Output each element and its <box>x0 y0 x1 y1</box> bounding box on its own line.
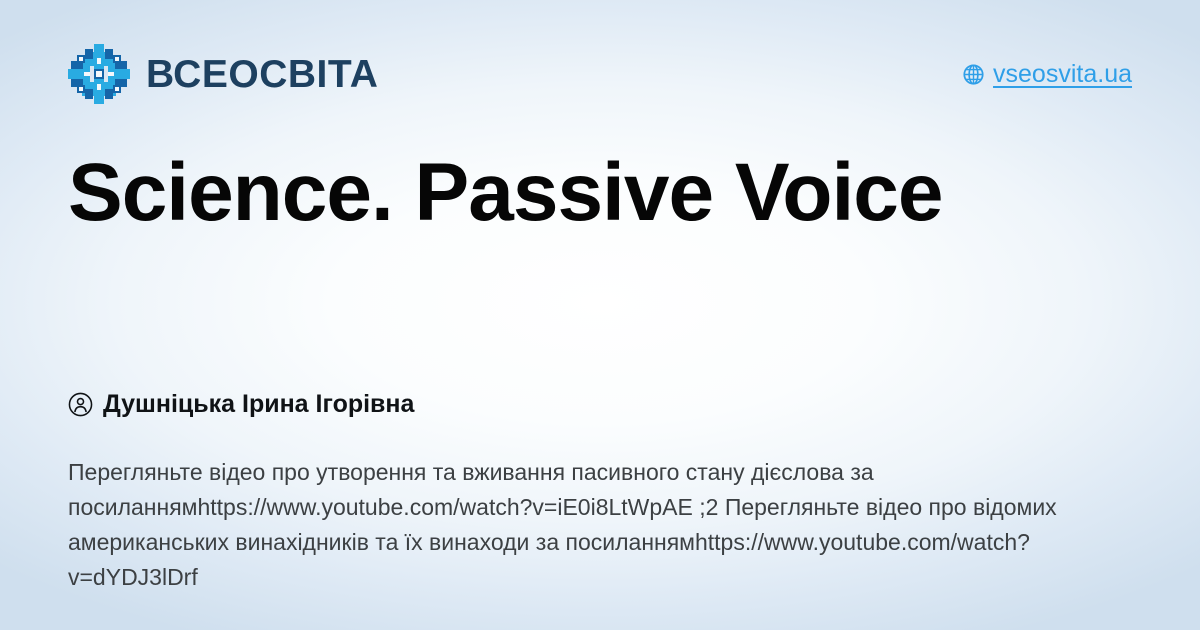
globe-icon <box>963 64 984 85</box>
site-url-label: vseosvita.ua <box>993 62 1132 87</box>
site-url-link[interactable]: vseosvita.ua <box>963 62 1132 87</box>
person-circle-icon <box>68 392 93 417</box>
author-row: Душніцька Ірина Ігорівна <box>68 392 414 417</box>
brand-logo[interactable]: ВСЕОСВІТА <box>68 44 378 104</box>
brand-wordmark: ВСЕОСВІТА <box>146 55 378 94</box>
page-title: Science. Passive Voice <box>68 150 1132 237</box>
page-header: ВСЕОСВІТА vseosvita.ua <box>68 0 1132 140</box>
author-name: Душніцька Ірина Ігорівна <box>103 392 414 417</box>
vseosvita-snowflake-logo-icon <box>68 44 130 104</box>
description-text: Перегляньте відео про утворення та вжива… <box>68 455 1113 595</box>
share-card: ВСЕОСВІТА vseosvita.ua Science. Passive … <box>0 0 1200 630</box>
